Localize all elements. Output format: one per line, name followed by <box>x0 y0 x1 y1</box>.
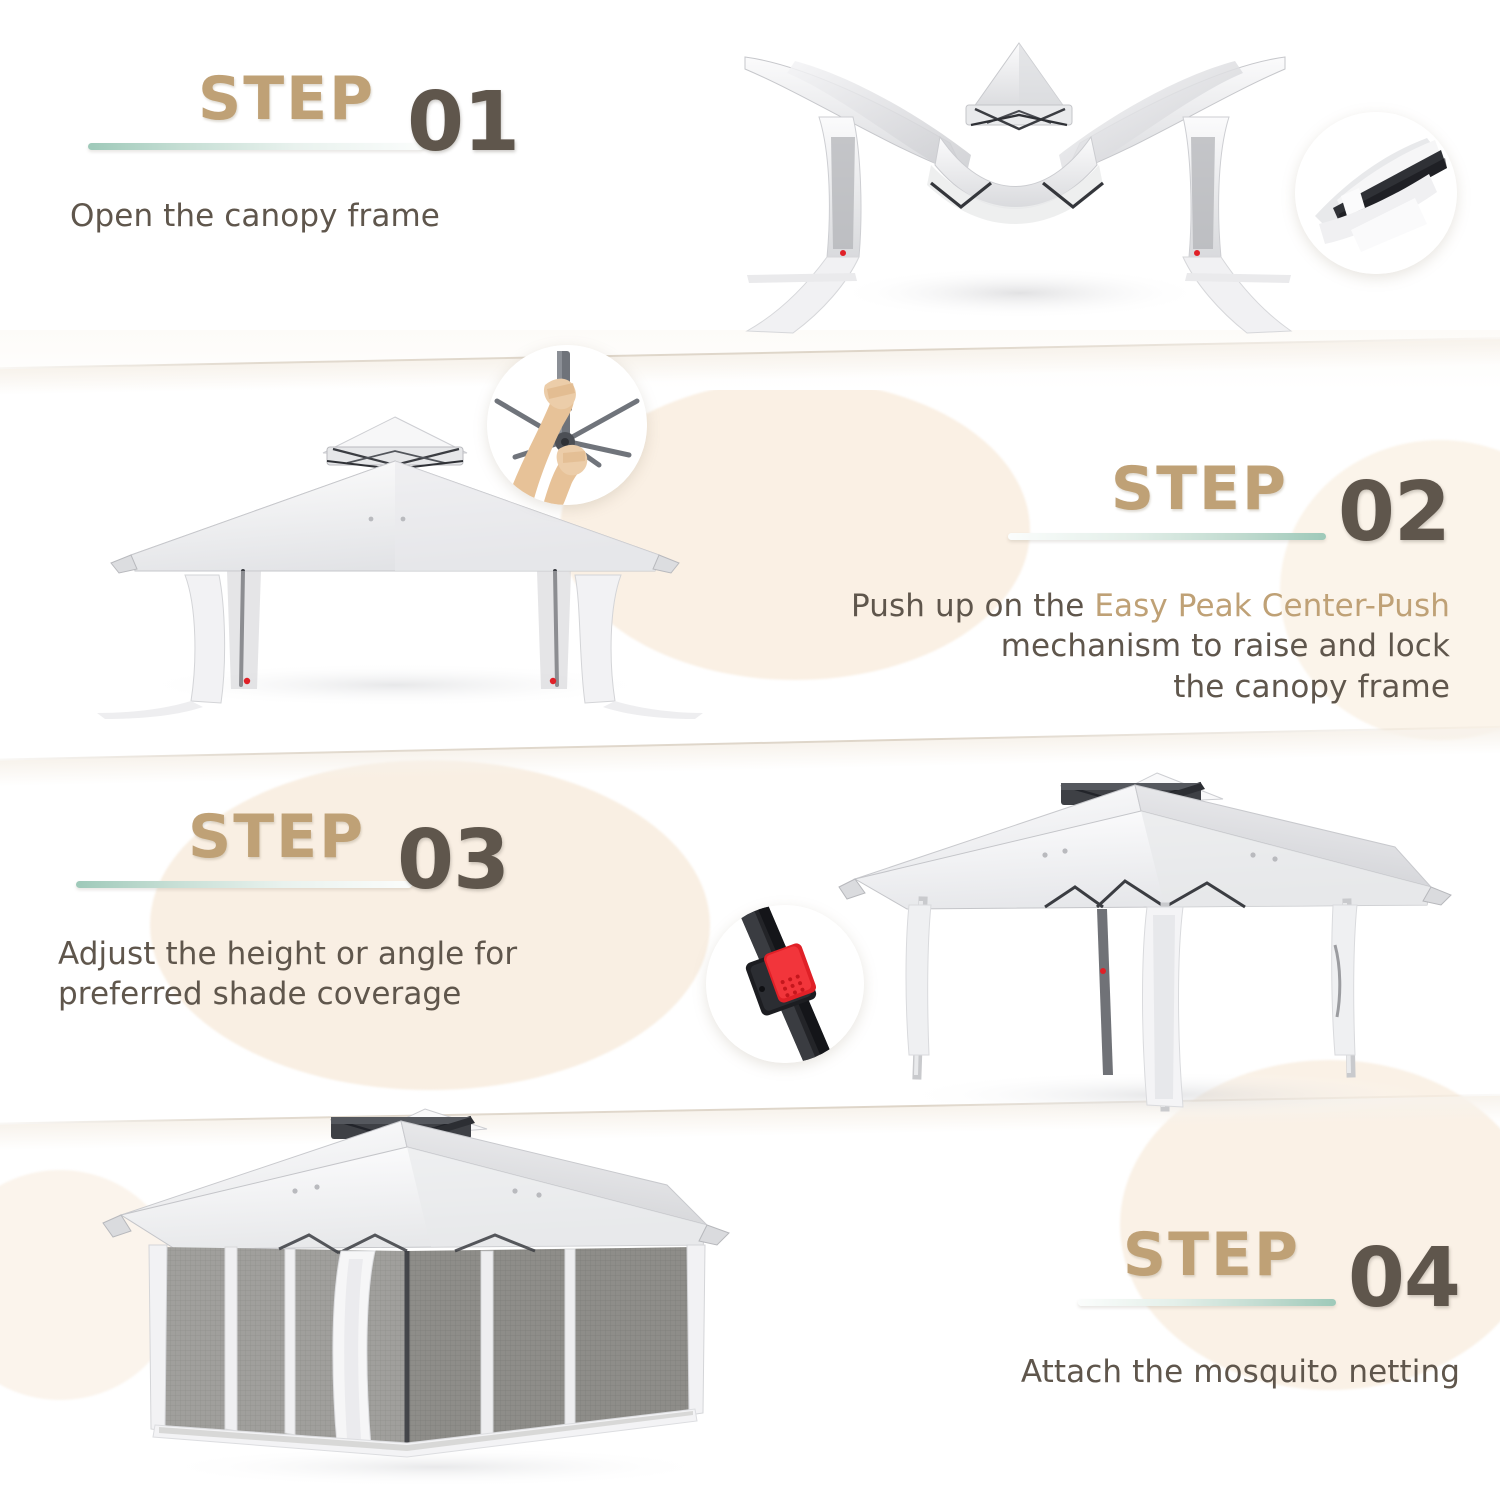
desc-line-3: the canopy frame <box>1173 669 1450 705</box>
step-block-01: STEP 01 Open the canopy frame <box>70 62 630 238</box>
desc-highlight: Easy Peak Center-Push <box>1094 588 1450 624</box>
step-word-label: STEP <box>1111 454 1288 524</box>
step-number-label: 04 <box>1348 1231 1460 1326</box>
step-block-04: STEP 04 Attach the mosquito netting <box>900 1218 1460 1394</box>
illustration-collapsed-canopy-frame <box>735 25 1295 355</box>
step-word-label: STEP <box>188 802 365 872</box>
illustration-full-height-gazebo <box>835 755 1475 1125</box>
desc-line-2: mechanism to raise and lock <box>1001 628 1450 664</box>
step-description-03: Adjust the height or angle for preferred… <box>58 934 618 1015</box>
step-description-04: Attach the mosquito netting <box>900 1352 1460 1394</box>
step-block-03: STEP 03 Adjust the height or angle for p… <box>58 800 618 1015</box>
step-rule <box>76 881 412 888</box>
step-header-04: STEP 04 <box>900 1218 1460 1330</box>
step-header-03: STEP 03 <box>58 800 618 912</box>
step-header-02: STEP 02 <box>830 452 1450 564</box>
step-rule <box>88 143 424 150</box>
step-description-01: Open the canopy frame <box>70 196 630 238</box>
desc-line-1: Adjust the height or angle for <box>58 936 517 972</box>
hands-center-push-inset <box>487 345 647 505</box>
step-rule <box>1078 1299 1336 1306</box>
desc-line-2: preferred shade coverage <box>58 976 461 1012</box>
red-button-leg-lock-inset <box>706 905 864 1063</box>
step-number-label: 03 <box>397 813 509 908</box>
step-number-label: 02 <box>1338 465 1450 560</box>
step-word-label: STEP <box>198 64 375 134</box>
step-word-label: STEP <box>1123 1220 1300 1290</box>
step-description-02: Push up on the Easy Peak Center-Push mec… <box>830 586 1450 707</box>
desc-line-1-prefix: Push up on the <box>851 588 1094 624</box>
illustration-gazebo-with-mosquito-netting <box>95 1095 755 1490</box>
canopy-corner-detail-inset <box>1295 112 1457 274</box>
step-rule <box>1008 533 1326 540</box>
step-block-02: STEP 02 Push up on the Easy Peak Center-… <box>830 452 1450 707</box>
step-header-01: STEP 01 <box>70 62 630 174</box>
step-number-label: 01 <box>407 75 519 170</box>
